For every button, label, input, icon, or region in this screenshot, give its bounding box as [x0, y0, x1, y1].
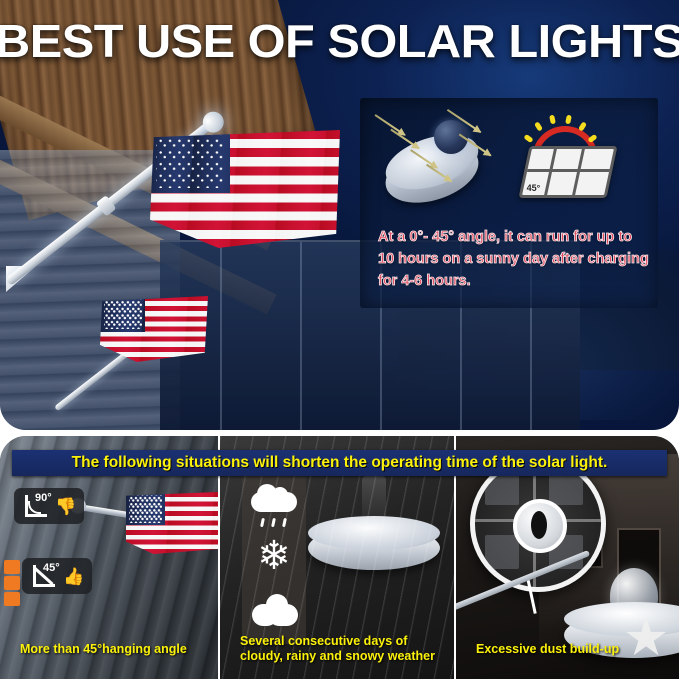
us-flag-small [100, 296, 208, 362]
infographic-canvas: BEST USE OF SOLAR LIGHTS [0, 0, 679, 679]
conditions-banner: The following situations will shorten th… [12, 450, 667, 476]
banner-text: The following situations will shorten th… [72, 454, 608, 472]
top-hero-section: BEST USE OF SOLAR LIGHTS [0, 0, 679, 430]
us-flag [126, 492, 218, 554]
caption-angle: More than 45°hanging angle [20, 642, 210, 657]
info-card-body-text: At a 0°- 45° angle, it can run for up to… [378, 226, 650, 292]
thumbs-up-icon: 👍 [63, 568, 84, 585]
page-title: BEST USE OF SOLAR LIGHTS [0, 16, 679, 66]
panel-hub [513, 499, 567, 553]
acute-angle-icon: 45° [30, 563, 56, 589]
panel-grid: 45° [518, 146, 617, 198]
thumbs-down-icon: 👎 [55, 498, 76, 515]
panel-angle-label: 45° [527, 183, 541, 193]
us-flag-large [150, 130, 340, 248]
badge-90-degree: 90° 👎 [14, 488, 84, 524]
badge-45-degree: 45° 👍 [22, 558, 92, 594]
badge-45-label: 45° [43, 562, 60, 574]
right-angle-icon: 90° [22, 493, 48, 519]
caption-dust: Excessive dust build-up [476, 642, 636, 657]
caption-weather: Several consecutive days of cloudy, rain… [240, 634, 450, 664]
solar-light-disc-icon [378, 114, 494, 210]
badge-90-label: 90° [35, 492, 52, 504]
battery-level-icon [4, 560, 20, 606]
solar-panel-icon: 45° [510, 112, 630, 204]
info-card: 45° At a 0°- 45° angle, it can run for u… [360, 98, 658, 308]
